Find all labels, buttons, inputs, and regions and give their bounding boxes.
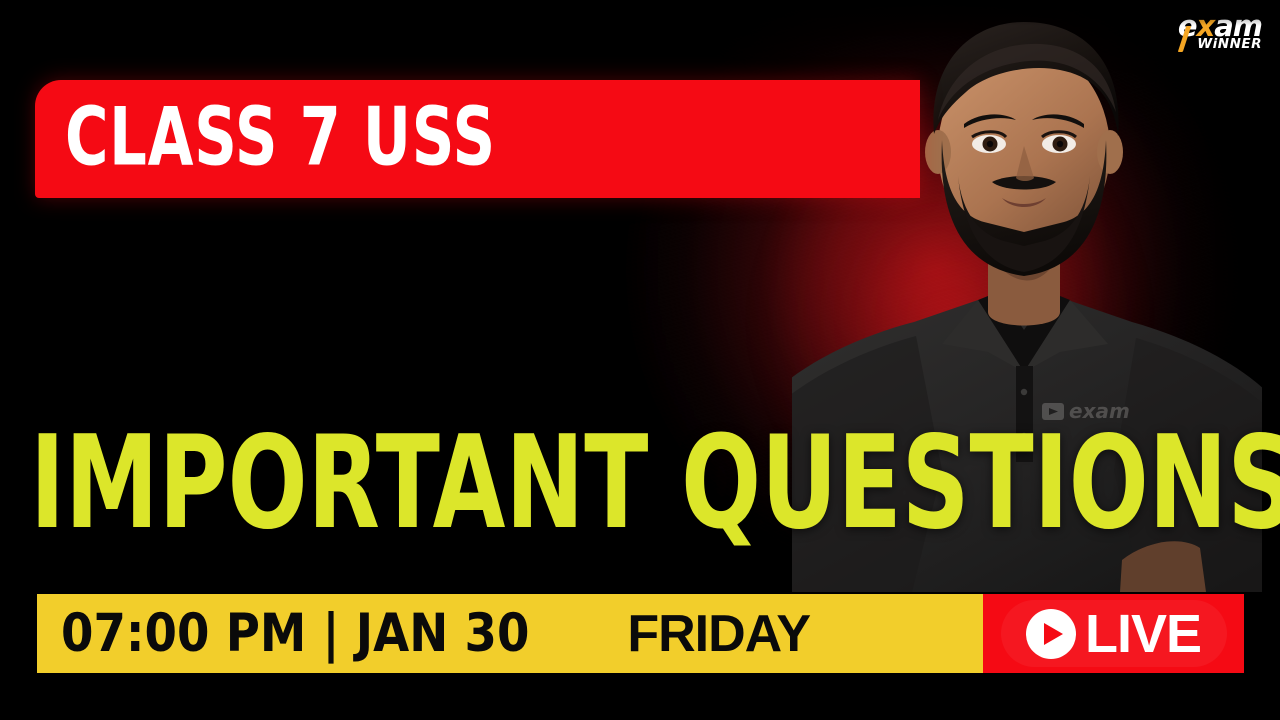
schedule-time-date: 07:00 PM | JAN 30 xyxy=(61,607,593,660)
class-banner-label: CLASS 7 USS xyxy=(65,97,647,177)
live-badge[interactable]: LIVE xyxy=(983,594,1244,673)
schedule-day: FRIDAY xyxy=(627,608,810,660)
class-banner: CLASS 7 USS xyxy=(35,80,920,198)
schedule-bar: 07:00 PM | JAN 30 FRIDAY xyxy=(37,594,983,673)
topic-title: IMPORTANT QUESTIONS xyxy=(30,420,1280,548)
live-badge-label: LIVE xyxy=(1085,607,1201,661)
subject-title: SOCIAL xyxy=(30,200,856,405)
play-icon xyxy=(1026,609,1076,659)
youtube-thumbnail: exam exam WiNNER CLASS 7 USS SOCIAL IMPO… xyxy=(0,0,1280,720)
